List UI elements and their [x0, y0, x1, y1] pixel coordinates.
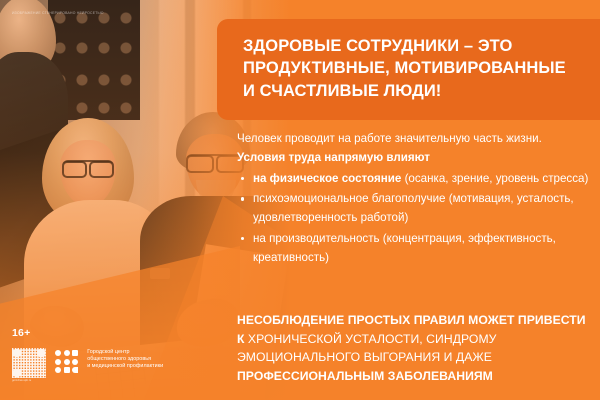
organization-name: Городской центр общественного здоровья и…	[87, 349, 163, 371]
bullet-bold-text: на физическое состояние	[253, 172, 401, 185]
body-copy: Человек проводит на работе значительную …	[237, 130, 589, 267]
bullet-dot-icon	[241, 177, 244, 180]
closing-part3: ПРОФЕССИОНАЛЬНЫМ ЗАБОЛЕВАНИЯМ	[237, 369, 493, 383]
footer-logo-lockup: gorzdrav.spb.ru Городской центр обществе…	[12, 348, 163, 383]
image-credit-line: изображение сгенерировано нейросетью	[12, 11, 164, 16]
bullet-dot-icon	[241, 197, 244, 200]
closing-statement: НЕСОБЛЮДЕНИЕ ПРОСТЫХ ПРАВИЛ МОЖЕТ ПРИВЕС…	[237, 311, 595, 385]
bullet-plain-text: на производительность (концентрация, эфф…	[253, 232, 556, 264]
bullet-plain-text: психоэмоциональное благополучие (мотивац…	[253, 192, 574, 224]
poster-root: изображение сгенерировано нейросетью ЗДО…	[0, 0, 600, 400]
list-item: на физическое состояние (осанка, зрение,…	[237, 170, 589, 189]
headline-text: ЗДОРОВЫЕ СОТРУДНИКИ – ЭТО ПРОДУКТИВНЫЕ, …	[243, 35, 582, 102]
headline-banner: ЗДОРОВЫЕ СОТРУДНИКИ – ЭТО ПРОДУКТИВНЫЕ, …	[217, 19, 600, 120]
age-rating-badge: 16+	[12, 327, 30, 339]
closing-part2: ХРОНИЧЕСКОЙ УСТАЛОСТИ, СИНДРОМУ ЭМОЦИОНА…	[237, 332, 496, 365]
bullet-dot-icon	[241, 237, 244, 240]
qr-code-icon[interactable]	[12, 348, 46, 378]
qr-code-block[interactable]: gorzdrav.spb.ru	[12, 348, 46, 383]
impact-bullet-list: на физическое состояние (осанка, зрение,…	[237, 170, 589, 268]
qr-code-caption: gorzdrav.spb.ru	[12, 379, 46, 383]
list-item: на производительность (концентрация, эфф…	[237, 230, 589, 268]
intro-paragraph: Человек проводит на работе значительную …	[237, 130, 589, 168]
intro-bold-text: Условия труда напрямую влияют	[237, 151, 430, 164]
list-item: психоэмоциональное благополучие (мотивац…	[237, 190, 589, 228]
bullet-plain-text: (осанка, зрение, уровень стресса)	[401, 172, 588, 185]
organization-logo-icon	[55, 350, 78, 373]
intro-plain-text: Человек проводит на работе значительную …	[237, 132, 542, 145]
